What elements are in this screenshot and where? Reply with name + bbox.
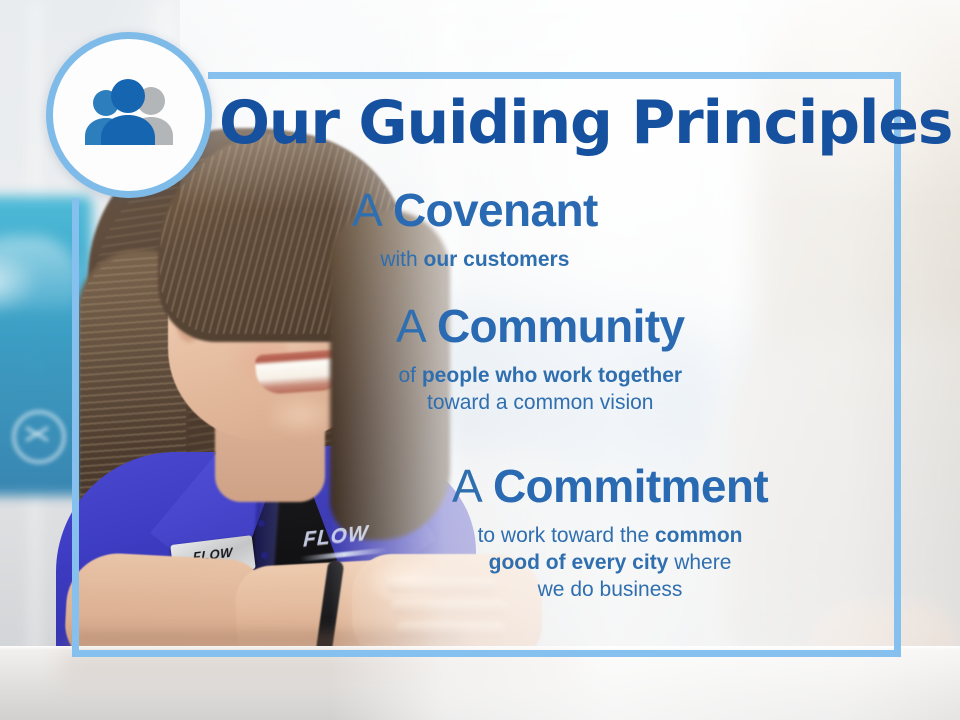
subtext-lead: to work toward the [478, 524, 655, 547]
principle-subtext: to work toward the common good of every … [452, 522, 768, 604]
subtext-line: good of every city where [452, 549, 768, 576]
subtext-line: we do business [452, 576, 768, 603]
principle-keyword: Community [437, 300, 685, 352]
subtext-emphasis: our customers [424, 248, 570, 271]
desk-reflection [60, 652, 580, 696]
subtext-emphasis: people who work together [422, 364, 682, 387]
frame-left-border [72, 198, 79, 657]
subtext-line: to work toward the common [452, 522, 768, 549]
subtext-emphasis: good of every city [489, 551, 669, 574]
people-group-icon [46, 32, 212, 198]
shirt-button [258, 520, 265, 527]
principle-commitment: A Commitment to work toward the common g… [452, 462, 768, 604]
principle-article: A [452, 460, 493, 512]
chin [262, 392, 340, 438]
subtext-emphasis: common [655, 524, 743, 547]
principle-keyword: Covenant [393, 184, 598, 236]
principle-subtext: with our customers [352, 246, 598, 273]
subtext-line: toward a common vision [396, 389, 685, 416]
principle-subtext: of people who work together toward a com… [396, 362, 685, 417]
principle-article: A [396, 300, 437, 352]
principle-heading: A Community [396, 302, 685, 352]
principle-covenant: A Covenant with our customers [352, 186, 598, 273]
frame-top-border [208, 72, 901, 79]
principle-community: A Community of people who work together … [396, 302, 685, 416]
principle-heading: A Covenant [352, 186, 598, 236]
graphic-canvas: FLOW AUTOMOTIVE FLOW [0, 0, 960, 720]
principle-keyword: Commitment [493, 460, 768, 512]
frame-right-border [894, 72, 901, 657]
subtext-lead: with [380, 248, 423, 271]
shirt-button [261, 552, 268, 559]
principle-article: A [352, 184, 393, 236]
principle-heading: A Commitment [452, 462, 768, 512]
subtext-tail: where [668, 551, 731, 574]
subtext-line: of people who work together [396, 362, 685, 389]
page-title: Our Guiding Principles [219, 92, 859, 155]
frame-bottom-border [72, 650, 901, 657]
subtext-lead: of [399, 364, 422, 387]
